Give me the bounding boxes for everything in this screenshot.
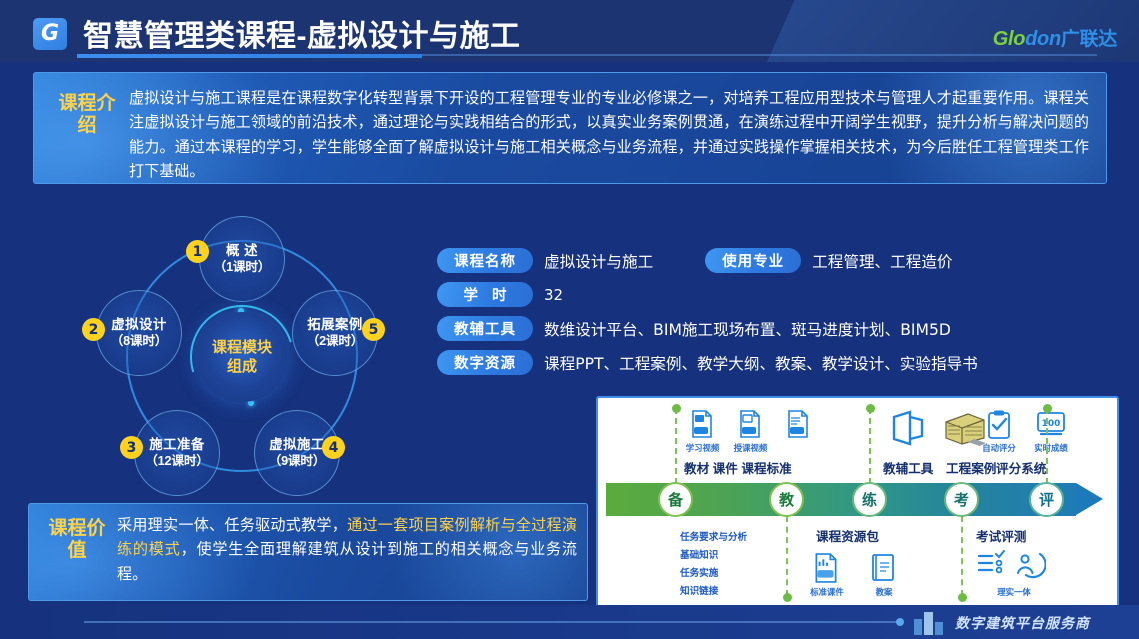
dot-exam-bottom [958,593,967,602]
glodon-logo-badge: G [33,18,67,50]
dashline-teach [786,516,788,596]
dashline-eval [1046,408,1048,484]
group-title-exam: 考试评测 [976,526,1026,545]
value-text: 采用理实一体、任务驱动式教学，通过一套项目案例解析与全过程演练的模式，使学生全面… [117,513,577,586]
value-text-a: 采用理实一体、任务驱动式教学， [117,516,347,534]
stage-kao[interactable]: 考 [944,482,979,517]
label-major: 使用专业 [705,248,801,273]
stage-lian[interactable]: 练 [852,482,887,517]
wheel-badge-1: 1 [186,240,209,263]
wheel-node-1-hours: （1课时） [214,259,271,276]
teaching-tool-icon [888,408,928,448]
svg-text:100: 100 [1042,419,1061,429]
value-text-b: ，使学生全面理解建筑从设计到施工的相关概念与业务流程。 [117,540,577,582]
teach-bullet-3: 任务实施 [680,566,718,583]
caption-practice-theory: 理实一体 [988,586,1040,598]
wheel-hub-line1: 课程模块 [212,338,272,358]
value-tools: 数维设计平台、BIM施工现场布置、斑马进度计划、BIM5D [544,318,951,340]
value-course-name: 虚拟设计与施工 [544,250,653,272]
wheel-badge-4: 4 [322,436,345,459]
dot-teach-bottom [783,593,792,602]
stage-ping[interactable]: 评 [1029,482,1064,517]
course-intro-panel: 课程介绍 虚拟设计与施工课程是在课程数字化转型背景下开设的工程管理专业的专业必修… [33,72,1107,184]
brand-don: don [1025,28,1061,50]
wheel-badge-2: 2 [82,318,105,341]
info-row-tools: 教辅工具 数维设计平台、BIM施工现场布置、斑马进度计划、BIM5D [437,316,1137,341]
mov-file-icon [690,410,714,438]
brand-chinese: 广联达 [1061,29,1117,50]
practice-theory-icon [1014,550,1046,580]
teach-bullet-4: 知识链接 [680,584,718,601]
wheel-badge-3: 3 [120,436,143,459]
group-title-resource: 课程资源包 [816,526,879,545]
course-module-wheel: 概 述 （1课时） 1 虚拟设计 （8课时） 2 施工准备 （12课时） 3 虚… [70,212,420,512]
stage-bei[interactable]: 备 [658,482,693,517]
brand-logo: Glodon广联达 [993,24,1117,51]
teach-bullet-2: 基础知识 [680,548,718,565]
checklist-icon [976,550,1008,580]
wheel-node-2[interactable]: 虚拟设计 （8课时） [96,290,182,376]
wheel-node-3-name: 施工准备 [149,436,205,454]
wheel-node-2-name: 虚拟设计 [111,316,167,334]
lesson-plan-book-icon [870,553,896,583]
wheel-hub: 课程模块 组成 [197,312,287,402]
title-underline-bright [77,54,422,58]
label-tools: 教辅工具 [437,316,533,341]
wheel-node-2-hours: （8课时） [111,333,168,350]
footer-rule [84,621,899,623]
page-header: G 智慧管理类课程-虚拟设计与施工 Glodon广联达 [0,0,1139,62]
wheel-node-5-hours: （2课时） [307,333,364,350]
caption-realtime-score: 实时成绩 [1028,442,1074,454]
wheel-node-3-hours: （12课时） [145,453,209,470]
avi-file-icon [738,410,762,438]
intro-label: 课程介绍 [56,93,118,138]
group-title-tools: 教辅工具 [883,458,933,477]
workflow-arrow-head [1076,483,1103,515]
dot-eval-top [1043,404,1052,413]
dashline-exam [961,516,963,596]
doc-file-icon [786,410,810,438]
realtime-score-icon: 100 [1036,411,1066,439]
value-major: 工程管理、工程造价 [812,250,952,272]
footer-slogan: 数字建筑平台服务商 [955,613,1090,633]
dashline-practice [869,408,871,484]
course-info-table: 课程名称 虚拟设计与施工 使用专业 工程管理、工程造价 学 时 32 教辅工具 … [437,248,1137,384]
building-icon [912,610,948,635]
wheel-node-1[interactable]: 概 述 （1课时） [199,216,285,302]
label-resources: 数字资源 [437,350,533,375]
wheel-node-3[interactable]: 施工准备 （12课时） [134,410,220,496]
wheel-hub-line2: 组成 [227,357,257,377]
group-title-eval: 评分系统 [996,458,1046,477]
value-hours: 32 [544,286,563,304]
dashline-prepare [675,408,677,484]
value-label: 课程价值 [47,518,107,563]
logo-letter: G [41,23,59,45]
ppt-file-icon [813,553,839,583]
info-row-resources: 数字资源 课程PPT、工程案例、教学大纲、教案、教学设计、实验指导书 [437,350,1137,375]
caption-lesson-plan: 教案 [864,586,904,598]
caption-study-video: 学习视频 [680,442,725,454]
stage-jiao[interactable]: 教 [769,482,804,517]
label-hours: 学 时 [437,282,533,307]
dot-prepare-top [672,404,681,413]
group-title-prepare: 教材 课件 课程标准 [684,458,792,477]
info-row-hours: 学 时 32 [437,282,1137,307]
page-footer: 数字建筑平台服务商 [0,605,1139,639]
caption-auto-grading: 自动评分 [976,442,1022,454]
brand-glo: Glo [993,28,1025,50]
workflow-panel: 备 教 练 考 评 学习视频 授课视频 教材 课件 课程标准 教辅工具 工程案例 [596,396,1119,626]
group-title-case: 工程案例 [946,458,996,477]
auto-grading-icon [986,410,1012,440]
caption-standard-courseware: 标准课件 [803,586,851,598]
intro-text: 虚拟设计与施工课程是在课程数字化转型背景下开设的工程管理专业的专业必修课之一，对… [129,86,1089,184]
caption-lecture-video: 授课视频 [728,442,773,454]
wheel-node-4-hours: （9课时） [269,453,326,470]
wheel-node-4-name: 虚拟施工 [269,436,325,454]
label-course-name: 课程名称 [437,248,533,273]
info-row-name-major: 课程名称 虚拟设计与施工 使用专业 工程管理、工程造价 [437,248,1137,273]
wheel-badge-5: 5 [362,318,385,341]
wheel-node-5-name: 拓展案例 [307,316,363,334]
course-value-panel: 课程价值 采用理实一体、任务驱动式教学，通过一套项目案例解析与全过程演练的模式，… [28,503,588,601]
wheel-node-1-name: 概 述 [226,242,258,260]
teach-bullet-1: 任务要求与分析 [680,530,747,547]
value-resources: 课程PPT、工程案例、教学大纲、教案、教学设计、实验指导书 [544,352,978,374]
dot-practice-top [866,404,875,413]
footer-dot [896,618,904,626]
page-title: 智慧管理类课程-虚拟设计与施工 [83,11,521,55]
